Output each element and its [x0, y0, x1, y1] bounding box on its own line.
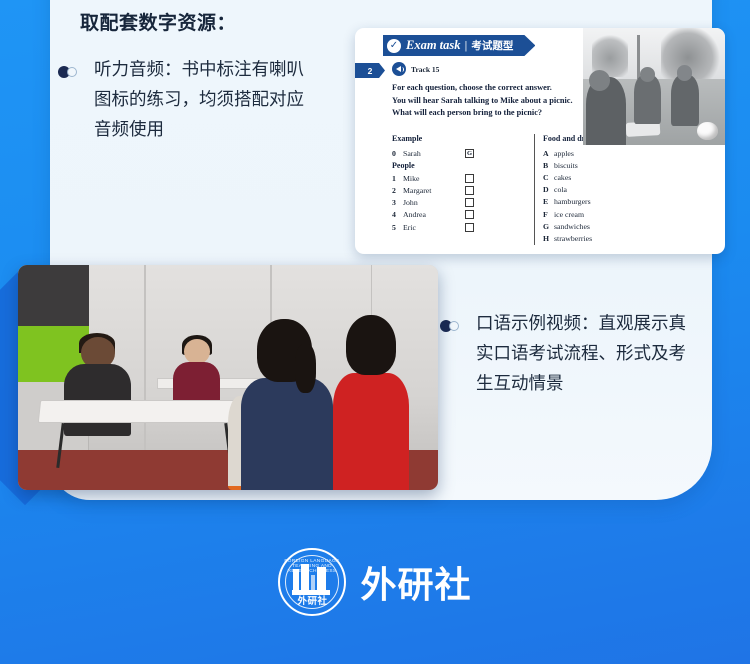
photo-person-right [671, 75, 699, 126]
slide-canvas: 取配套数字资源： 听力音频：书中标注有喇叭图标的练习，均须搭配对应音频使用 口语… [0, 0, 750, 664]
photo-football [697, 122, 718, 141]
bullet-text-video: 口语示例视频：直观展示真实口语考试流程、形式及考生互动情景 [476, 308, 692, 398]
option-row: G sandwiches [543, 220, 644, 232]
example-row: 0 Sarah G [392, 147, 527, 159]
option-row: C cakes [543, 171, 644, 183]
exam-task-title-en: Exam task [406, 38, 461, 53]
people-heading: People [392, 159, 527, 172]
person-name: Margaret [403, 186, 465, 195]
person-name: John [403, 198, 465, 207]
option-label: hamburgers [554, 197, 591, 206]
audio-track-row: Track 15 [392, 62, 439, 76]
example-heading: Example [392, 134, 527, 143]
bullet-dot-ring [449, 321, 459, 331]
video-wall-panel-dark [18, 265, 89, 326]
person-number: 3 [392, 198, 403, 207]
people-row: 4 Andrea [392, 209, 527, 221]
seal-chinese-name: 外研社 [280, 593, 344, 607]
option-row: E hamburgers [543, 196, 644, 208]
options-column: Food and drink A apples B biscuits C cak… [534, 134, 644, 245]
bullet-marker-audio [58, 66, 84, 78]
answer-box[interactable] [465, 174, 474, 183]
option-letter: G [543, 222, 554, 231]
video-student-1-body [241, 378, 333, 491]
people-column: Example 0 Sarah G People 1 Mike 2 Margar… [392, 134, 527, 233]
option-label: apples [554, 149, 574, 158]
option-row: H strawberries [543, 232, 644, 244]
fltrp-seal-icon: FOREIGN LANGUAGE TEACHING AND RESEARCH P… [278, 548, 346, 616]
video-table-legs [52, 423, 237, 468]
people-row: 2 Margaret [392, 184, 527, 196]
seal-building-glyph [292, 563, 332, 595]
example-name: Sarah [403, 149, 465, 158]
video-student-2-body [333, 373, 409, 490]
video-student-2-head [346, 315, 396, 376]
option-row: F ice cream [543, 208, 644, 220]
video-front-table [38, 400, 250, 423]
answer-box[interactable] [465, 223, 474, 232]
person-name: Andrea [403, 210, 465, 219]
video-student-1-ponytail [295, 344, 316, 394]
option-label: strawberries [554, 234, 592, 243]
speaker-icon[interactable] [392, 62, 406, 76]
people-row: 3 John [392, 197, 527, 209]
option-label: sandwiches [554, 222, 590, 231]
option-row: B biscuits [543, 159, 644, 171]
check-circle-icon: ✓ [387, 39, 401, 53]
option-letter: A [543, 149, 554, 158]
person-number: 2 [392, 186, 403, 195]
option-letter: C [543, 173, 554, 182]
person-name: Eric [403, 223, 465, 232]
person-number: 4 [392, 210, 403, 219]
page-title: 取配套数字资源： [80, 8, 236, 35]
brand-logo: FOREIGN LANGUAGE TEACHING AND RESEARCH P… [0, 548, 750, 616]
photo-person-foreground-head [589, 70, 610, 91]
people-row: 5 Eric [392, 221, 527, 233]
answer-box[interactable] [465, 186, 474, 195]
option-letter: E [543, 197, 554, 206]
speaking-exam-video-image[interactable] [18, 265, 438, 490]
option-letter: F [543, 210, 554, 219]
example-number: 0 [392, 149, 403, 158]
bullet-text-audio: 听力音频：书中标注有喇叭图标的练习，均须搭配对应音频使用 [94, 54, 304, 144]
example-answer-box: G [465, 149, 474, 158]
answer-box[interactable] [465, 210, 474, 219]
exam-task-title-zh: 考试题型 [471, 38, 513, 53]
photo-person-middle [634, 75, 661, 124]
exam-task-card: ✓ Exam task | 考试题型 2 Track 15 For each q… [355, 28, 725, 254]
person-name: Mike [403, 174, 465, 183]
picnic-photo [583, 28, 725, 145]
bullet-marker-video [440, 320, 466, 332]
exam-task-banner: ✓ Exam task | 考试题型 [383, 35, 535, 56]
answer-box[interactable] [465, 198, 474, 207]
option-label: cakes [554, 173, 571, 182]
brand-wordmark: 外研社 [360, 556, 471, 608]
video-examiner-2-head [184, 339, 209, 364]
option-label: cola [554, 185, 567, 194]
option-letter: H [543, 234, 554, 243]
option-letter: D [543, 185, 554, 194]
question-number-tag: 2 [355, 63, 385, 78]
person-number: 1 [392, 174, 403, 183]
option-row: A apples [543, 147, 644, 159]
audio-track-label: Track 15 [411, 65, 439, 74]
option-row: D cola [543, 184, 644, 196]
option-label: ice cream [554, 210, 584, 219]
photo-person-middle-head [640, 67, 656, 82]
option-label: biscuits [554, 161, 578, 170]
bullet-dot-ring [67, 67, 77, 77]
option-letter: B [543, 161, 554, 170]
exam-task-separator: | [465, 40, 468, 52]
person-number: 5 [392, 223, 403, 232]
photo-person-right-head [677, 65, 693, 80]
people-row: 1 Mike [392, 172, 527, 184]
